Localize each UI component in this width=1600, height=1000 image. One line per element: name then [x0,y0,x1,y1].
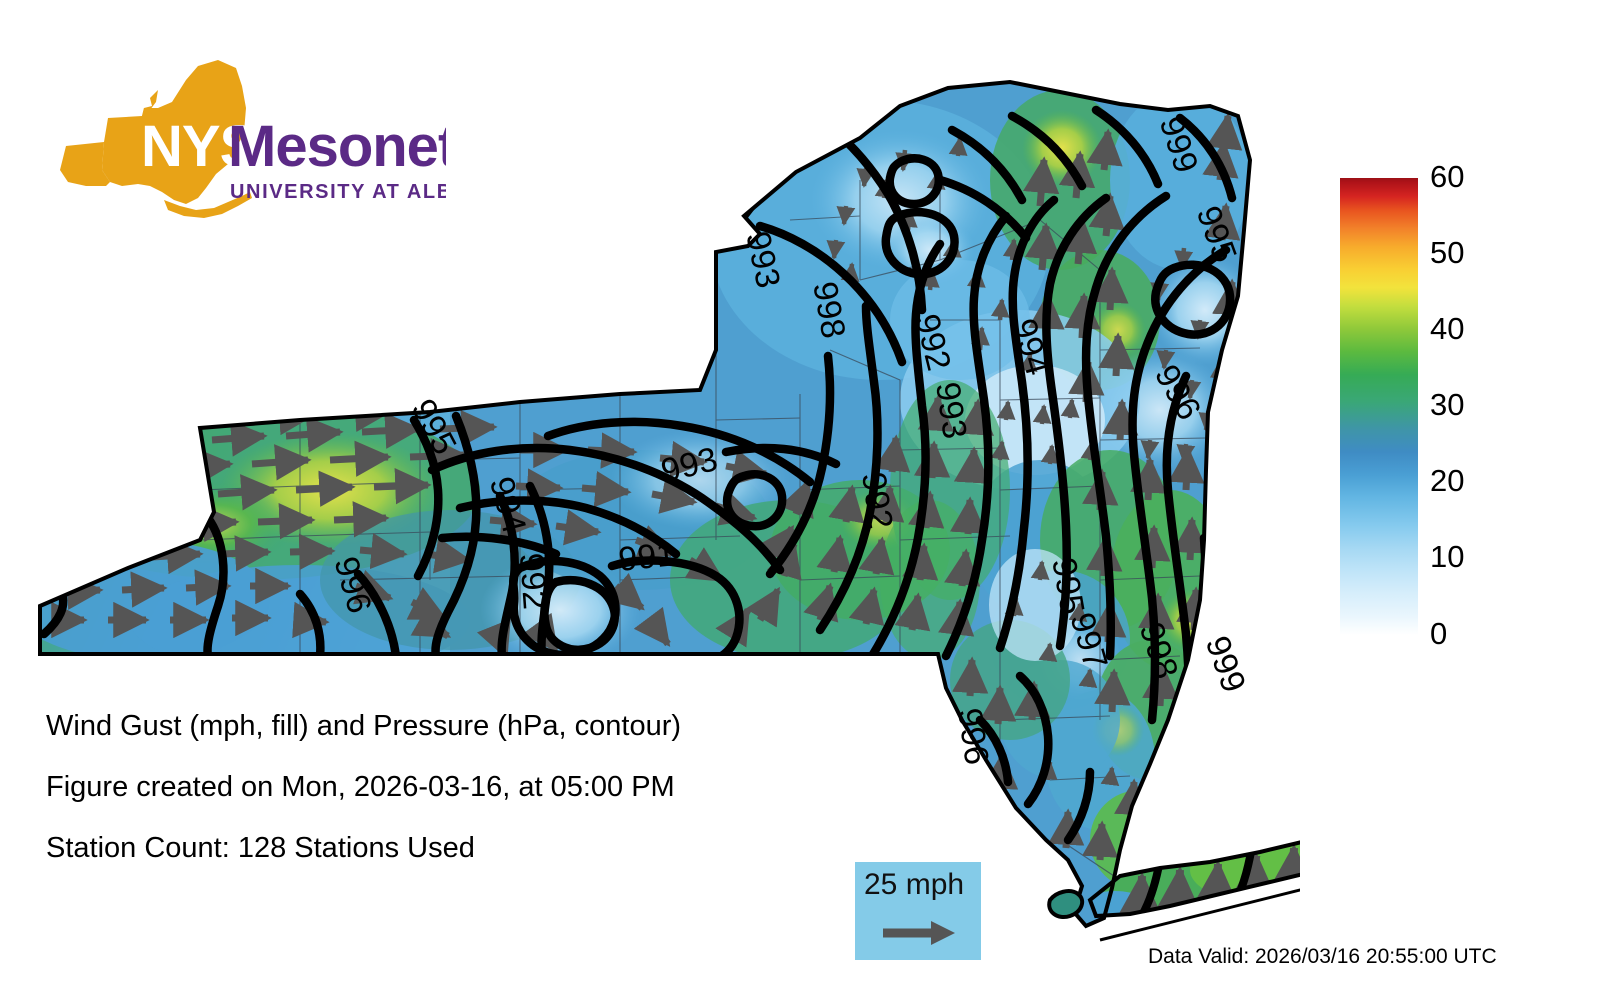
contour-label-999-southeast: 999 [1198,631,1253,697]
colorbar-tick-0: 0 [1430,618,1447,649]
contour-label-996-catskills: 996 [950,706,996,767]
gust-colorbar: 60 50 40 30 20 10 0 [1330,160,1590,660]
wind-reference-vector-key: 25 mph [855,862,981,960]
colorbar-gradient [1340,178,1418,635]
colorbar-tick-50: 50 [1430,237,1464,268]
caption-station-count-line: Station Count: 128 Stations Used [46,834,866,863]
contour-label-991-low-center: 991 [617,535,677,579]
wind-key-arrow-icon [881,917,959,949]
colorbar-tick-60: 60 [1430,161,1464,192]
colorbar-tick-30: 30 [1430,389,1464,420]
colorbar-tick-40: 40 [1430,313,1464,344]
caption-title-line: Wind Gust (mph, fill) and Pressure (hPa,… [46,712,866,741]
colorbar-tick-20: 20 [1430,465,1464,496]
contour-label-993-central-north: 993 [928,380,974,441]
wind-key-label: 25 mph [864,868,964,902]
data-valid-timestamp: Data Valid: 2026/03/16 20:55:00 UTC [1148,945,1497,969]
contour-label-992-central: 992 [854,470,900,531]
staten-island-outline [1049,891,1082,917]
contour-label-992-southwest: 992 [512,552,554,611]
caption-created-line: Figure created on Mon, 2026-03-16, at 05… [46,773,866,802]
colorbar-tick-10: 10 [1430,541,1464,572]
figure-caption-block: Wind Gust (mph, fill) and Pressure (hPa,… [46,712,866,895]
